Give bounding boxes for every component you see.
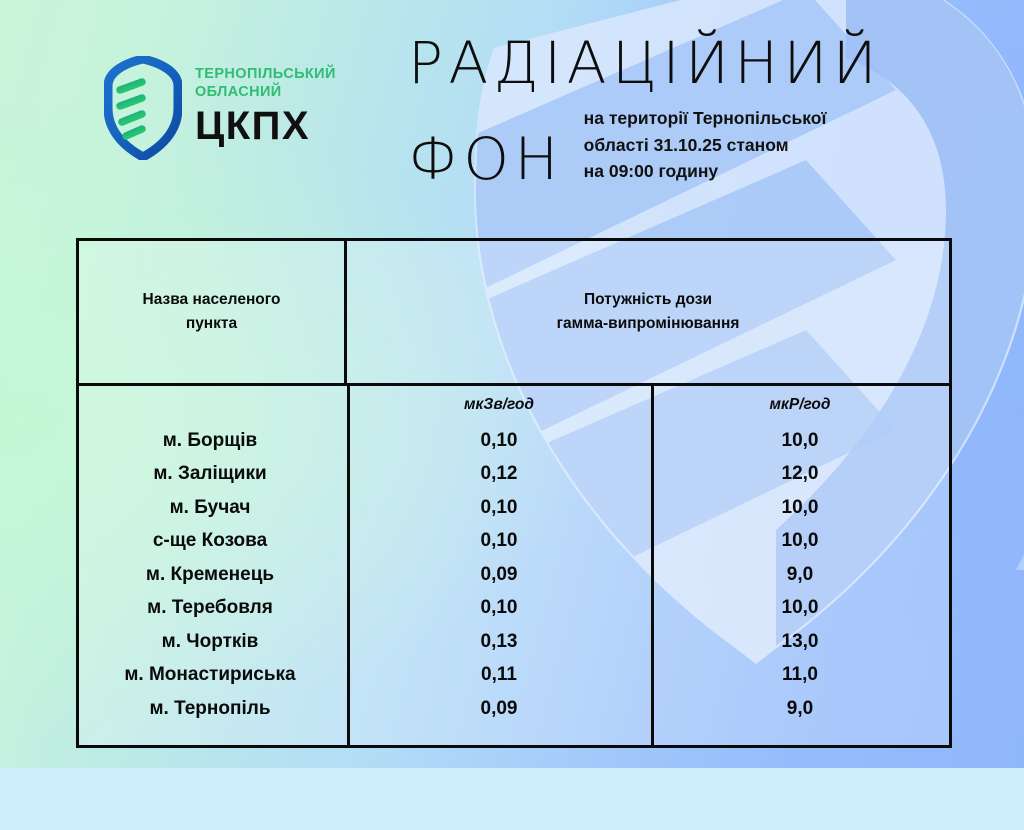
settlement-name: м. Теребовля — [147, 597, 273, 618]
table-body: мкЗв/год мкР/год м. Борщів0,1010,0м. Зал… — [79, 386, 949, 745]
dose-value-usv: 0,12 — [481, 463, 518, 484]
dose-value-usv: 0,10 — [481, 430, 518, 451]
dose-value-ur: 11,0 — [782, 664, 818, 685]
dose-value-usv: 0,10 — [481, 497, 518, 518]
dose-value-ur: 13,0 — [782, 631, 819, 652]
cell-dose-usv: 0,10 — [347, 531, 651, 551]
settlement-name: м. Монастириська — [124, 664, 295, 685]
dose-value-usv: 0,09 — [481, 698, 518, 719]
table-rows-host: м. Борщів0,1010,0м. Заліщики0,1212,0м. Б… — [79, 424, 949, 726]
cell-settlement: м. Борщів — [79, 431, 347, 451]
table-row: м. Заліщики0,1212,0 — [79, 458, 949, 492]
dose-value-ur: 10,0 — [782, 597, 819, 618]
table-divider-2 — [651, 386, 654, 745]
table-row: м. Чортків0,1313,0 — [79, 625, 949, 659]
dose-value-usv: 0,10 — [481, 530, 518, 551]
table-row: м. Монастириська0,1111,0 — [79, 659, 949, 693]
settlement-name: м. Чортків — [162, 631, 259, 652]
cell-dose-ur: 13,0 — [651, 632, 949, 652]
org-line-1: ТЕРНОПІЛЬСЬКИЙ — [195, 66, 336, 84]
settlement-name: м. Заліщики — [153, 463, 266, 484]
cell-dose-usv: 0,12 — [347, 464, 651, 484]
dose-value-ur: 12,0 — [782, 463, 819, 484]
cell-dose-ur: 12,0 — [651, 464, 949, 484]
page-subtitle: на території Тернопільської області 31.1… — [584, 105, 827, 185]
settlement-name: м. Бучач — [170, 497, 251, 518]
cell-settlement: с-ще Козова — [79, 531, 347, 551]
unit-label-ur: мкР/год — [770, 396, 831, 413]
table-row: м. Бучач0,1010,0 — [79, 491, 949, 525]
dose-value-ur: 10,0 — [782, 497, 819, 518]
cell-dose-usv: 0,09 — [347, 565, 651, 585]
settlement-name: м. Кременець — [146, 564, 274, 585]
cell-dose-usv: 0,10 — [347, 498, 651, 518]
cell-dose-usv: 0,11 — [347, 665, 651, 685]
cell-dose-usv: 0,13 — [347, 632, 651, 652]
column-header-settlement-line-1: Назва населеного — [143, 288, 281, 312]
shield-leaf-logo-icon — [104, 56, 182, 160]
table-row: м. Борщів0,1010,0 — [79, 424, 949, 458]
dose-value-ur: 9,0 — [787, 698, 813, 719]
dose-value-usv: 0,11 — [481, 664, 517, 685]
cell-dose-ur: 10,0 — [651, 531, 949, 551]
column-header-dose-rate: Потужність дози гамма-випромінювання — [347, 241, 949, 383]
cell-settlement: м. Тернопіль — [79, 699, 347, 719]
table-divider-1 — [347, 386, 350, 745]
settlement-name: м. Борщів — [163, 430, 257, 451]
table-row: м. Тернопіль0,099,0 — [79, 692, 949, 726]
cell-settlement: м. Заліщики — [79, 464, 347, 484]
cell-settlement: м. Кременець — [79, 565, 347, 585]
page-title-line-2: ФОН — [408, 130, 564, 189]
settlement-name: с-ще Козова — [153, 530, 267, 551]
organization-logo: ТЕРНОПІЛЬСЬКИЙ ОБЛАСНИЙ ЦКПХ — [104, 50, 404, 170]
settlement-name: м. Тернопіль — [149, 698, 270, 719]
cell-dose-usv: 0,10 — [347, 431, 651, 451]
page-title-line-1: РАДІАЦІЙНИЙ — [408, 34, 1008, 93]
dose-value-ur: 10,0 — [782, 530, 819, 551]
cell-dose-usv: 0,09 — [347, 699, 651, 719]
cell-dose-ur: 10,0 — [651, 431, 949, 451]
cell-dose-ur: 10,0 — [651, 598, 949, 618]
cell-dose-ur: 11,0 — [651, 665, 949, 685]
cell-dose-ur: 10,0 — [651, 498, 949, 518]
table-header-row: Назва населеного пункта Потужність дози … — [79, 241, 949, 386]
organization-name: ТЕРНОПІЛЬСЬКИЙ ОБЛАСНИЙ ЦКПХ — [195, 50, 336, 146]
column-header-settlement: Назва населеного пункта — [79, 241, 347, 383]
column-header-settlement-line-2: пункта — [143, 312, 281, 336]
cell-dose-ur: 9,0 — [651, 699, 949, 719]
unit-label-usv: мкЗв/год — [464, 396, 534, 413]
column-header-dose-rate-line-2: гамма-випромінювання — [557, 312, 740, 336]
table-row: м. Кременець0,099,0 — [79, 558, 949, 592]
subtitle-line-3: на 09:00 годину — [584, 158, 827, 185]
cell-settlement: м. Чортків — [79, 632, 347, 652]
table-row: с-ще Козова0,1010,0 — [79, 525, 949, 559]
cell-settlement: м. Бучач — [79, 498, 347, 518]
cell-dose-ur: 9,0 — [651, 565, 949, 585]
dose-value-ur: 10,0 — [782, 430, 819, 451]
radiation-table: Назва населеного пункта Потужність дози … — [76, 238, 952, 748]
table-row: м. Теребовля0,1010,0 — [79, 592, 949, 626]
cell-settlement: м. Теребовля — [79, 598, 347, 618]
cell-settlement: м. Монастириська — [79, 665, 347, 685]
org-abbreviation: ЦКПХ — [195, 106, 336, 146]
dose-value-usv: 0,10 — [481, 597, 518, 618]
page-title-block: РАДІАЦІЙНИЙ ФОН на території Тернопільсь… — [408, 34, 1008, 189]
org-line-2: ОБЛАСНИЙ — [195, 84, 336, 102]
subtitle-line-1: на території Тернопільської — [584, 105, 827, 132]
column-header-dose-rate-line-1: Потужність дози — [557, 288, 740, 312]
dose-value-usv: 0,13 — [481, 631, 518, 652]
dose-value-usv: 0,09 — [481, 564, 518, 585]
cell-dose-usv: 0,10 — [347, 598, 651, 618]
subtitle-line-2: області 31.10.25 станом — [584, 132, 827, 159]
dose-value-ur: 9,0 — [787, 564, 813, 585]
table-units-row: мкЗв/год мкР/год — [79, 386, 949, 424]
